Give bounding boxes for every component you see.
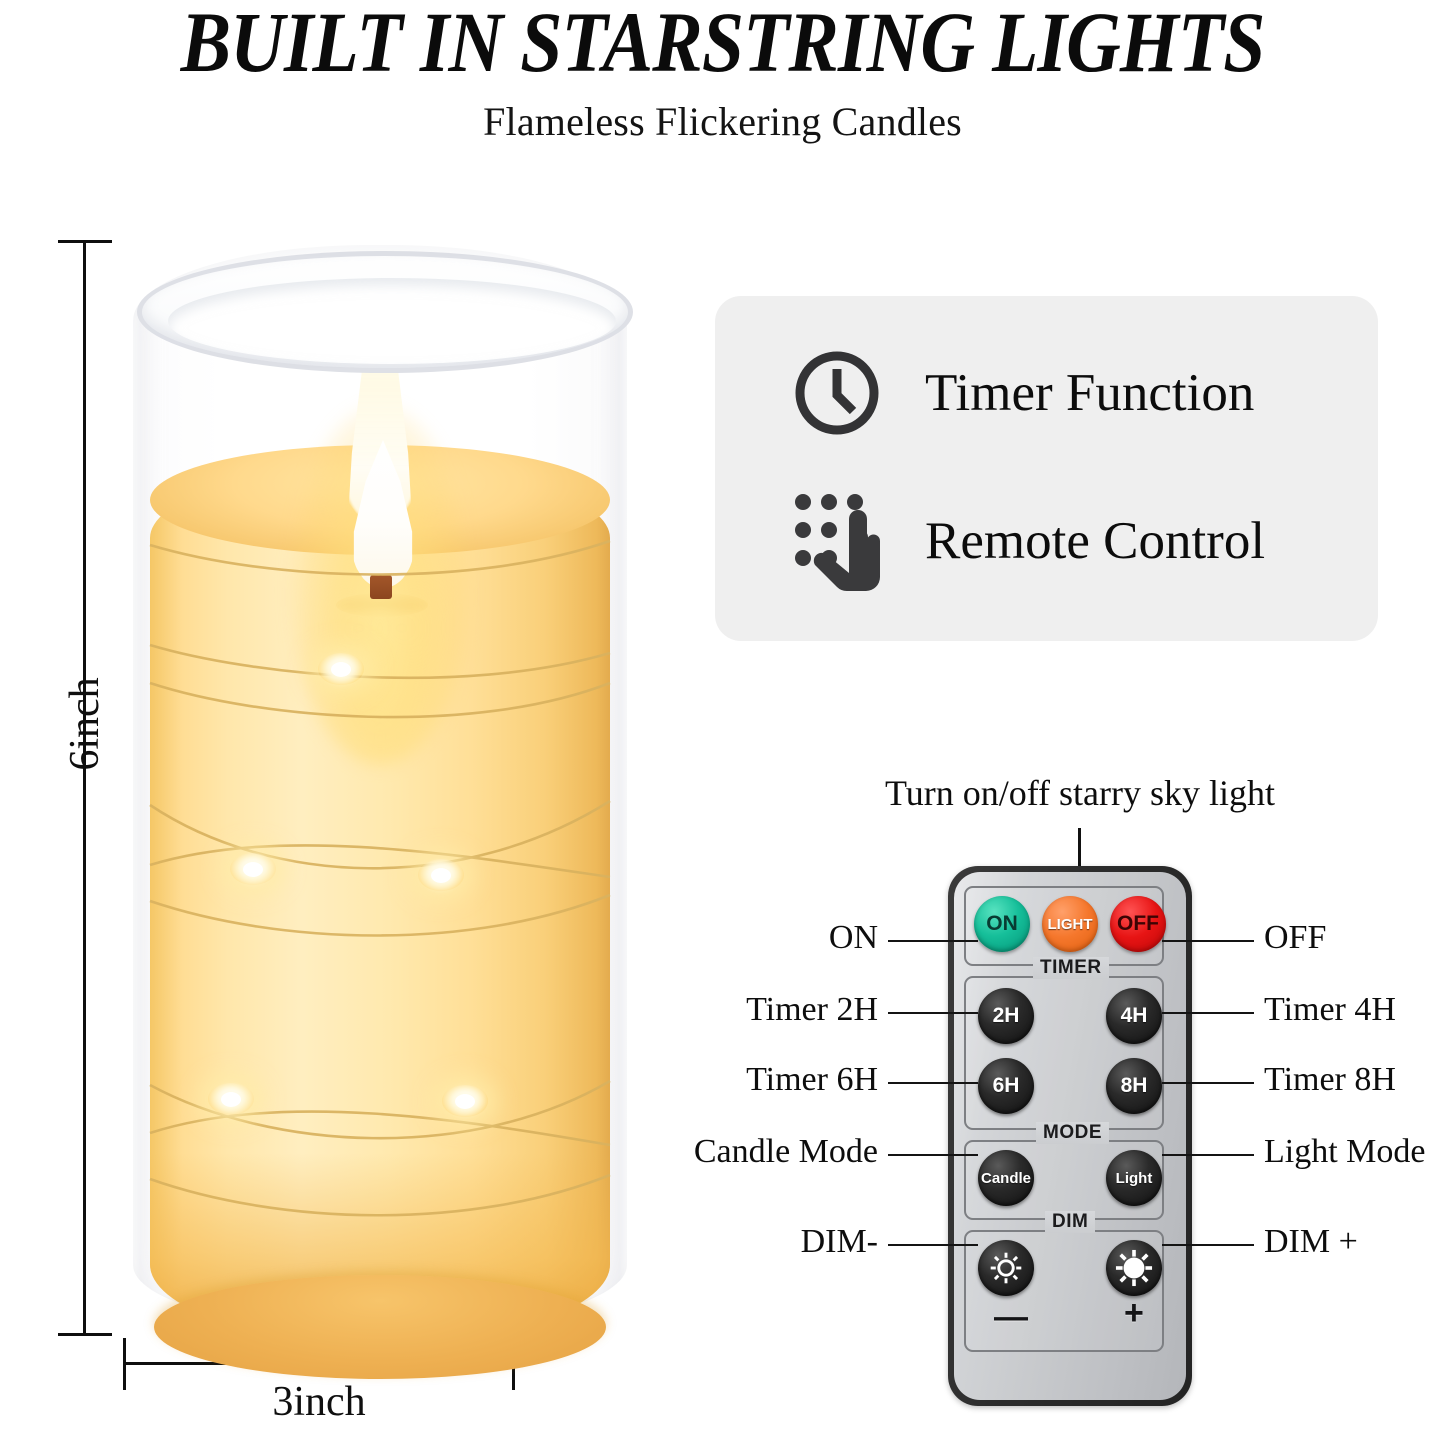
timer-2h-button[interactable]: 2H bbox=[978, 988, 1034, 1044]
leader-line-candle-mode bbox=[888, 1154, 978, 1156]
callout-light-mode: Light Mode bbox=[1264, 1133, 1425, 1171]
leader-line-timer-4h bbox=[1162, 1012, 1254, 1014]
timer-8h-button[interactable]: 8H bbox=[1106, 1058, 1162, 1114]
sun-large-icon bbox=[1115, 1249, 1153, 1287]
remote-diagram: Turn on/off starry sky light ON LIGHT OF… bbox=[0, 0, 1445, 1437]
timer-6h-button[interactable]: 6H bbox=[978, 1058, 1034, 1114]
mode-section-label: MODE bbox=[1036, 1122, 1109, 1144]
dim-down-button[interactable] bbox=[978, 1240, 1034, 1296]
callout-timer-8h: Timer 8H bbox=[1264, 1061, 1396, 1099]
callout-timer-6h: Timer 6H bbox=[608, 1061, 878, 1099]
callout-timer-2h: Timer 2H bbox=[608, 991, 878, 1029]
timer-section-label: TIMER bbox=[1033, 957, 1109, 979]
candle-mode-button[interactable]: Candle bbox=[978, 1150, 1034, 1206]
product-infographic: BUILT IN STARSTRING LIGHTS Flameless Fli… bbox=[0, 0, 1445, 1437]
leader-line-dim-plus bbox=[1162, 1244, 1254, 1246]
dim-section-label: DIM bbox=[1045, 1211, 1095, 1233]
leader-line-light-mode bbox=[1162, 1154, 1254, 1156]
leader-line-on bbox=[888, 940, 978, 942]
callout-candle-mode: Candle Mode bbox=[578, 1133, 878, 1171]
dim-minus-sign: — bbox=[994, 1298, 1028, 1337]
sun-small-icon bbox=[989, 1251, 1023, 1285]
leader-line-dim-minus bbox=[888, 1244, 978, 1246]
leader-line-timer-8h bbox=[1162, 1082, 1254, 1084]
callout-off: OFF bbox=[1264, 919, 1326, 957]
on-button[interactable]: ON bbox=[974, 896, 1030, 952]
leader-line-timer-6h bbox=[888, 1082, 978, 1084]
timer-4h-button[interactable]: 4H bbox=[1106, 988, 1162, 1044]
callout-timer-4h: Timer 4H bbox=[1264, 991, 1396, 1029]
dim-plus-sign: + bbox=[1124, 1294, 1144, 1333]
dim-up-button[interactable] bbox=[1106, 1240, 1162, 1296]
callout-dim-minus: DIM- bbox=[608, 1223, 878, 1261]
callout-on: ON bbox=[608, 919, 878, 957]
light-mode-button[interactable]: Light bbox=[1106, 1150, 1162, 1206]
leader-line-off bbox=[1162, 940, 1254, 942]
off-button[interactable]: OFF bbox=[1110, 896, 1166, 952]
light-button[interactable]: LIGHT bbox=[1042, 896, 1098, 952]
leader-line-timer-2h bbox=[888, 1012, 978, 1014]
starry-sky-callout-label: Turn on/off starry sky light bbox=[840, 772, 1320, 814]
callout-dim-plus: DIM + bbox=[1264, 1223, 1358, 1261]
